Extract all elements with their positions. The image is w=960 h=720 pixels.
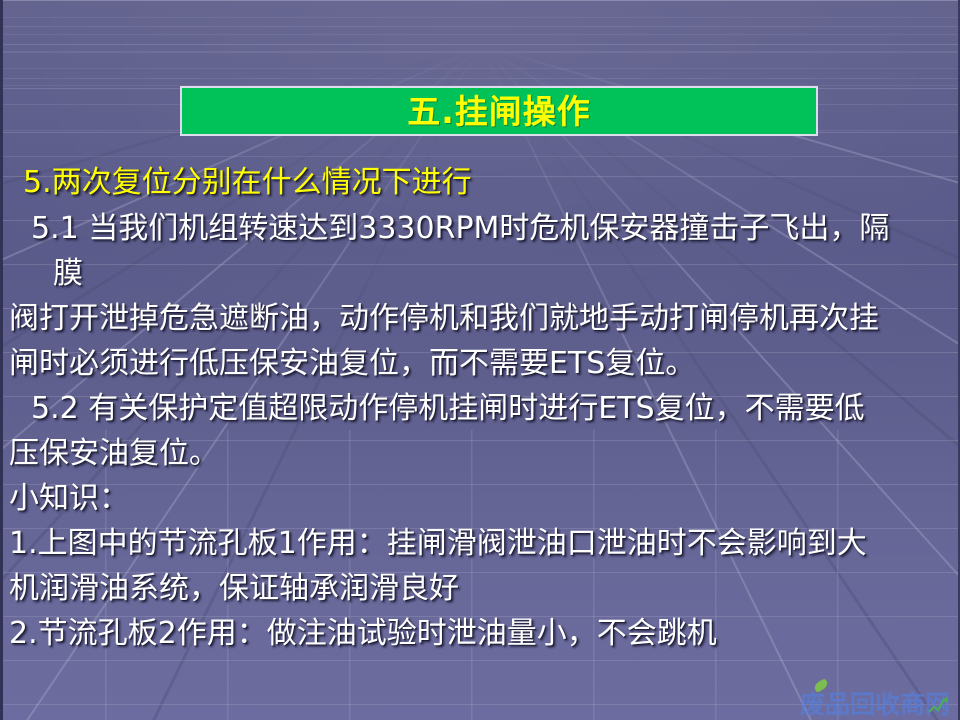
growth-chart-icon	[928, 696, 949, 715]
site-watermark: 废品回收商网	[800, 692, 950, 718]
body-line: 膜	[9, 251, 957, 296]
body-line: 阀打开泄掉危急遮断油，动作停机和我们就地手动打闸停机再次挂	[9, 296, 957, 341]
body-line: 5.1 当我们机组转速达到3330RPM时危机保安器撞击子飞出，隔	[9, 206, 957, 251]
body-line: 机润滑油系统，保证轴承润滑良好	[9, 566, 957, 611]
body-line: 小知识：	[9, 476, 957, 521]
section-heading: 5.两次复位分别在什么情况下进行	[9, 160, 957, 206]
body-line: 2.节流孔板2作用：做注油试验时泄油量小，不会跳机	[9, 611, 957, 656]
body-line: 5.2 有关保护定值超限动作停机挂闸时进行ETS复位，不需要低	[9, 386, 957, 431]
slide-body: 5.两次复位分别在什么情况下进行 5.1 当我们机组转速达到3330RPM时危机…	[3, 160, 960, 656]
slide-canvas: 五.挂闸操作 5.两次复位分别在什么情况下进行 5.1 当我们机组转速达到333…	[0, 0, 960, 720]
slide-title: 五.挂闸操作	[407, 95, 591, 128]
slide-title-banner: 五.挂闸操作	[180, 86, 818, 136]
body-line: 压保安油复位。	[9, 431, 957, 476]
body-line: 闸时必须进行低压保安油复位，而不需要ETS复位。	[9, 341, 957, 386]
body-text-block: 5.1 当我们机组转速达到3330RPM时危机保安器撞击子飞出，隔膜阀打开泄掉危…	[9, 206, 957, 656]
horizontal-gridlines-denser	[3, 0, 958, 90]
body-line: 1.上图中的节流孔板1作用：挂闸滑阀泄油口泄油时不会影响到大	[9, 521, 957, 566]
